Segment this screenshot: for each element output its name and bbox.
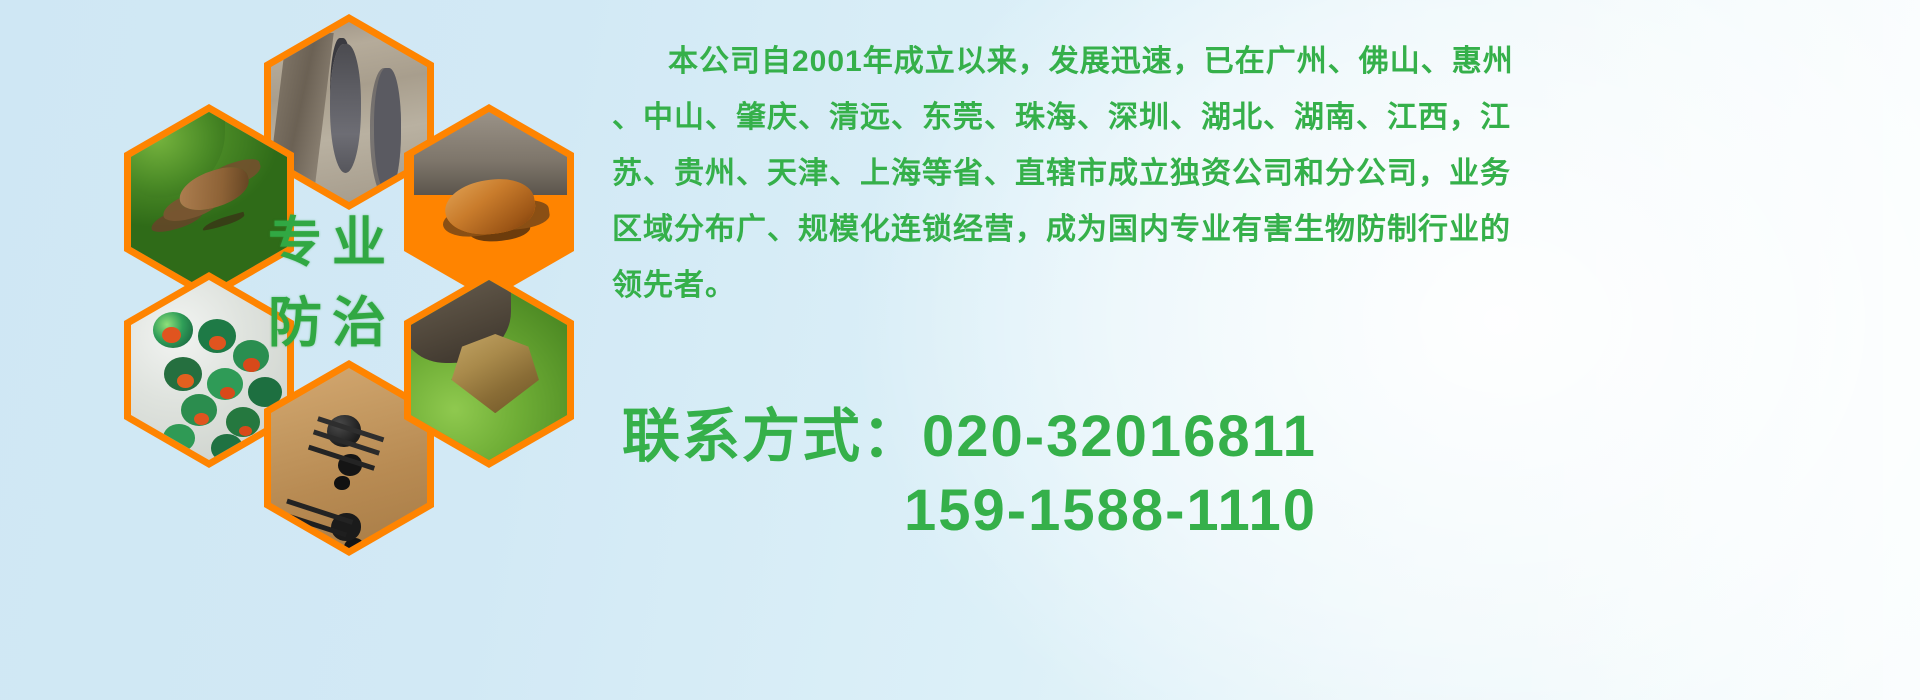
- ant-image: [271, 368, 427, 548]
- hexagon-photo-rats-frame: [271, 22, 427, 202]
- hexagon-photo-ant-frame: [271, 368, 427, 548]
- collage-slogan-line-1: 专业: [268, 198, 396, 277]
- hexagon-photo-cockroach-frame: [411, 112, 567, 292]
- promo-banner: 专业 防治 本公司自2001年成立以来，发展迅速，已在广州、佛山、惠州 、中山、…: [0, 0, 1920, 700]
- intro-line-3: 苏、贵州、天津、上海等省、直辖市成立独资公司和分公司，业务: [612, 146, 1882, 202]
- flies-image: [131, 280, 287, 460]
- intro-line-1: 本公司自2001年成立以来，发展迅速，已在广州、佛山、惠州: [612, 34, 1882, 90]
- contact-block: 联系方式：020-32016811 159-1588-1110: [622, 400, 1902, 548]
- cockroach-image: [411, 112, 567, 292]
- hexagon-photo-stinkbug-frame: [411, 280, 567, 460]
- intro-copy-block: 本公司自2001年成立以来，发展迅速，已在广州、佛山、惠州 、中山、肇庆、清远、…: [612, 34, 1882, 314]
- collage-slogan-line-2: 防治: [268, 278, 396, 357]
- contact-phone-primary[interactable]: 联系方式：020-32016811: [622, 400, 1902, 474]
- hexagon-photo-flies-frame: [131, 280, 287, 460]
- intro-line-4: 区域分布广、规模化连锁经营，成为国内专业有害生物防制行业的: [612, 202, 1882, 258]
- intro-paragraph: 本公司自2001年成立以来，发展迅速，已在广州、佛山、惠州 、中山、肇庆、清远、…: [612, 34, 1882, 314]
- hexagon-photo-mosquito-frame: [131, 112, 287, 292]
- rats-image: [271, 22, 427, 202]
- contact-phone-secondary[interactable]: 159-1588-1110: [622, 474, 1902, 548]
- intro-line-2: 、中山、肇庆、清远、东莞、珠海、深圳、湖北、湖南、江西，江: [612, 90, 1882, 146]
- hexagon-photo-collage: 专业 防治: [88, 0, 588, 560]
- intro-line-5: 领先者。: [612, 258, 1882, 314]
- stinkbug-image: [411, 280, 567, 460]
- mosquito-image: [131, 112, 287, 292]
